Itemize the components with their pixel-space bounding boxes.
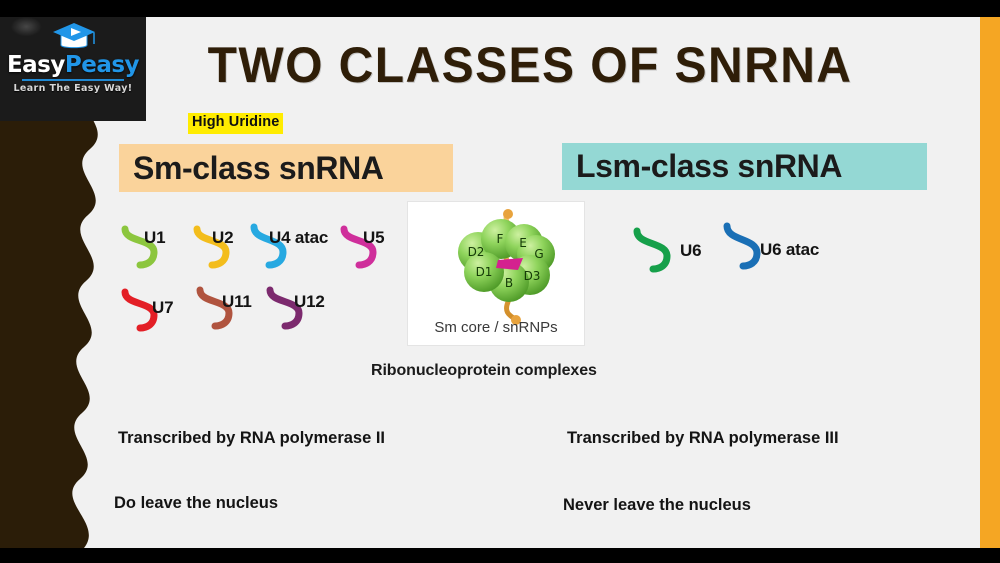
statement-lsm-nucleus: Never leave the nucleus xyxy=(563,495,751,515)
logo-underline xyxy=(22,79,124,81)
rna-squiggle-u6 xyxy=(632,226,674,274)
heading-lsm-class: Lsm-class snRNA xyxy=(562,143,927,190)
statement-sm-polymerase: Transcribed by RNA polymerase II xyxy=(118,428,385,448)
sm-core-figure: D2 F E G D3 B D1 Sm core / snRNPs xyxy=(408,202,584,345)
letterbox-top xyxy=(0,0,1000,17)
slide-root: EasyPeasy Learn The Easy Way! TWO CLASSE… xyxy=(0,0,1000,563)
svg-text:D1: D1 xyxy=(476,265,493,279)
rnp-caption: Ribonucleoprotein complexes xyxy=(371,362,597,380)
brand-logo[interactable]: EasyPeasy Learn The Easy Way! xyxy=(0,0,146,121)
sm-core-caption: Sm core / snRNPs xyxy=(408,319,584,336)
svg-text:E: E xyxy=(519,236,527,250)
logo-tagline: Learn The Easy Way! xyxy=(0,83,146,94)
accent-stripe xyxy=(980,17,1000,548)
badge-high-uridine: High Uridine xyxy=(188,113,283,134)
svg-text:D2: D2 xyxy=(468,245,485,259)
statement-sm-nucleus: Do leave the nucleus xyxy=(114,493,278,513)
rna-label-u6: U6 xyxy=(680,241,701,261)
logo-word-easy: Easy xyxy=(7,52,65,78)
logo-wordmark: EasyPeasy xyxy=(0,54,146,77)
heading-sm-class: Sm-class snRNA xyxy=(119,144,453,192)
logo-word-peasy: Peasy xyxy=(65,52,139,78)
rna-label-u11: U11 xyxy=(222,292,252,312)
rna-label-u6atac: U6 atac xyxy=(760,240,819,260)
svg-text:D3: D3 xyxy=(524,269,541,283)
page-title: TWO CLASSES OF SNRNA xyxy=(165,36,895,94)
rna-label-u2: U2 xyxy=(212,228,233,248)
graduation-cap-play-icon xyxy=(52,22,96,52)
rna-squiggle-u6atac xyxy=(722,221,764,271)
svg-text:F: F xyxy=(497,232,504,246)
rna-label-u12: U12 xyxy=(294,292,325,312)
rna-label-u7: U7 xyxy=(152,298,173,318)
svg-text:B: B xyxy=(505,276,513,290)
rna-label-u5: U5 xyxy=(363,228,384,248)
statement-lsm-polymerase: Transcribed by RNA polymerase III xyxy=(567,428,839,448)
svg-text:G: G xyxy=(534,247,543,261)
rna-label-u1: U1 xyxy=(144,228,165,248)
letterbox-bottom xyxy=(0,548,1000,563)
rna-label-u4atac: U4 atac xyxy=(269,228,328,248)
